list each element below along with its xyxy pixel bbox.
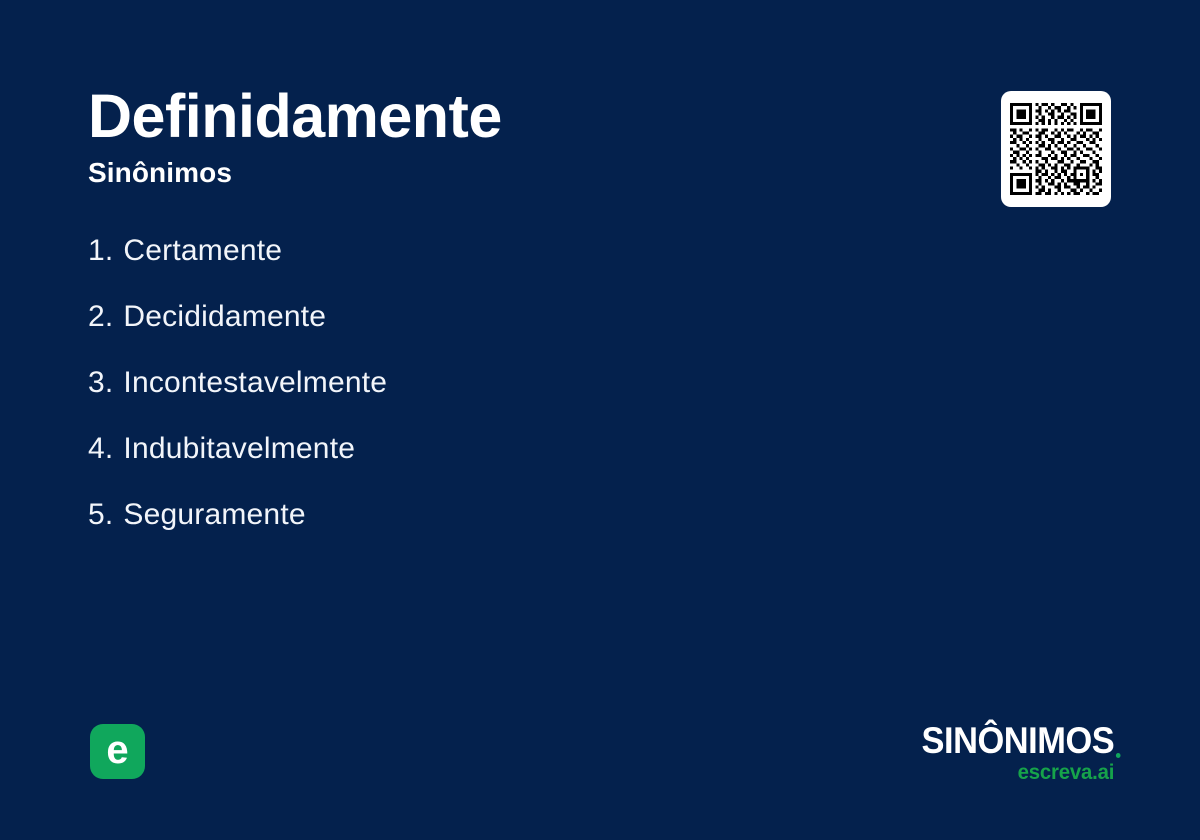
- brand-domain: escreva.ai: [913, 762, 1114, 783]
- brand-dot-icon: [1116, 753, 1121, 758]
- list-item-word: Certamente: [123, 234, 282, 268]
- list-item-word: Incontestavelmente: [123, 366, 387, 400]
- list-item-index: 1.: [88, 234, 113, 268]
- synonym-card: Definidamente Sinônimos 1. Certamente 2.…: [0, 0, 1200, 840]
- list-item-index: 4.: [88, 432, 113, 466]
- brand-name: SINÔNIMOS: [921, 722, 1114, 759]
- page-subtitle: Sinônimos: [88, 158, 948, 189]
- list-item-index: 5.: [88, 498, 113, 532]
- list-item-word: Indubitavelmente: [123, 432, 355, 466]
- brand-lockup[interactable]: SINÔNIMOS escreva.ai: [907, 722, 1114, 783]
- page-title: Definidamente: [88, 84, 948, 148]
- list-item-index: 3.: [88, 366, 113, 400]
- list-item: 4. Indubitavelmente: [88, 432, 908, 498]
- card-header: Definidamente Sinônimos: [88, 84, 948, 189]
- qr-code-icon[interactable]: [1001, 91, 1111, 207]
- list-item: 2. Decididamente: [88, 300, 908, 366]
- app-logo-letter: e: [106, 730, 128, 770]
- list-item-index: 2.: [88, 300, 113, 334]
- list-item: 5. Seguramente: [88, 498, 908, 564]
- synonym-list: 1. Certamente 2. Decididamente 3. Incont…: [88, 234, 908, 564]
- escreva-e-logo-icon[interactable]: e: [90, 724, 145, 779]
- list-item-word: Seguramente: [123, 498, 305, 532]
- list-item: 1. Certamente: [88, 234, 908, 300]
- list-item: 3. Incontestavelmente: [88, 366, 908, 432]
- list-item-word: Decididamente: [123, 300, 326, 334]
